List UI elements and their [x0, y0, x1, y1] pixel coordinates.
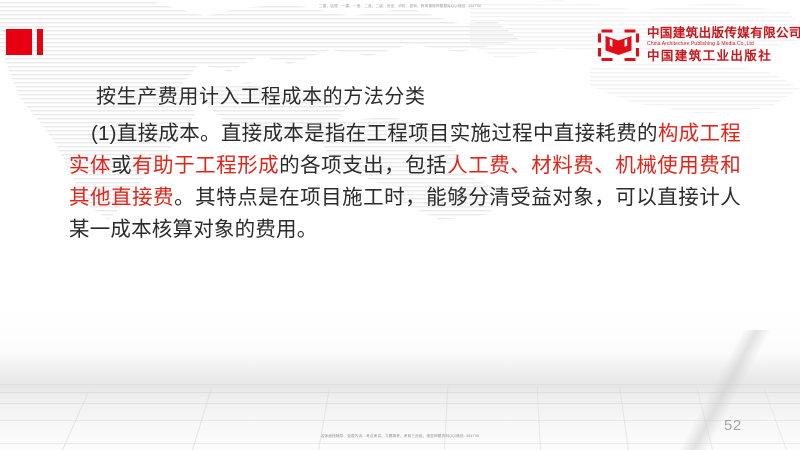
micro-footer-watermark: 名师面授辅导、免费内训、考点串讲、习题精考、考前三页纸、绝密押题资料QQ/微信:…: [0, 434, 800, 439]
red-accent-bar: [37, 29, 43, 55]
publisher-imprint-name-cn: 中国建筑工业出版社: [647, 50, 800, 63]
body-rich-text: (1)直接成本。直接成本是指在工程项目实施过程中直接耗费的构成工程实体或有助于工…: [69, 122, 741, 241]
red-accent-block: [6, 29, 32, 55]
perspective-floor: [0, 386, 800, 450]
body-run-3: 有助于工程形成: [132, 154, 279, 177]
page-number: 52: [724, 417, 742, 434]
slide-heading: 按生产费用计入工程成本的方法分类: [96, 80, 426, 109]
open-book-logo-icon: [597, 25, 640, 65]
slide-canvas: 中国建筑出版传媒有限公司 China Architecture Publishi…: [0, 0, 800, 450]
wall-shadow-gradient: [0, 352, 800, 384]
publisher-logo: 中国建筑出版传媒有限公司 China Architecture Publishi…: [597, 25, 800, 65]
micro-header-watermark: 二建、监理、一建、一造、二造、二级、安全、消防、咨询、教育课程押题题库QQ/微信…: [0, 4, 800, 9]
publisher-company-name-cn: 中国建筑出版传媒有限公司: [647, 27, 800, 40]
publisher-company-name-en: China Architecture Publishing & Media Co…: [647, 42, 800, 47]
slide-body-text: (1)直接成本。直接成本是指在工程项目实施过程中直接耗费的构成工程实体或有助于工…: [69, 118, 741, 246]
body-run-0: (1)直接成本。直接成本是指在工程项目实施过程中直接耗费的: [91, 122, 658, 145]
publisher-logo-text: 中国建筑出版传媒有限公司 China Architecture Publishi…: [647, 27, 800, 63]
body-run-2: 或: [111, 154, 132, 177]
body-run-4: 的各项支出，包括: [279, 154, 447, 177]
